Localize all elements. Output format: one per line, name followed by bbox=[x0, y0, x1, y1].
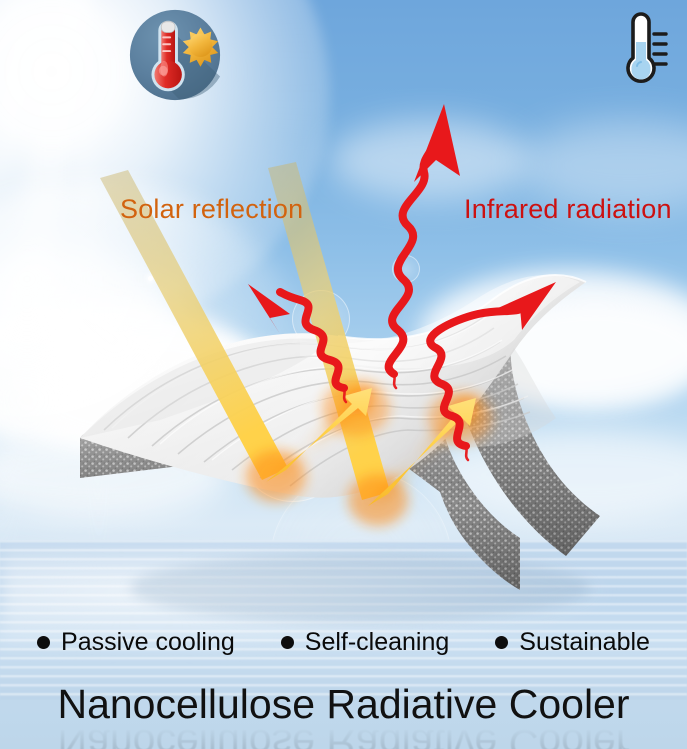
thermometer-cold-icon bbox=[617, 12, 669, 94]
label-infrared-radiation: Infrared radiation bbox=[464, 194, 672, 225]
feature-list: Passive cooling Self-cleaning Sustainabl… bbox=[0, 628, 687, 657]
graphical-abstract: Solar reflection Infrared radiation Pass… bbox=[0, 0, 687, 749]
page-title-reflection: Nanocellulose Radiative Cooler bbox=[0, 723, 687, 749]
list-item: Passive cooling bbox=[37, 628, 235, 657]
feature-label: Passive cooling bbox=[61, 628, 235, 657]
thermometer-ticks bbox=[654, 34, 666, 64]
feature-label: Self-cleaning bbox=[305, 628, 450, 657]
title-block: Nanocellulose Radiative Cooler Nanocellu… bbox=[0, 684, 687, 749]
bullet-dot-icon bbox=[37, 636, 50, 649]
feature-label: Sustainable bbox=[519, 628, 650, 657]
list-item: Self-cleaning bbox=[281, 628, 450, 657]
list-item: Sustainable bbox=[495, 628, 650, 657]
bullet-dot-icon bbox=[495, 636, 508, 649]
page-title: Nanocellulose Radiative Cooler bbox=[0, 684, 687, 725]
label-solar-reflection: Solar reflection bbox=[120, 194, 303, 225]
thermometer-sun-icon bbox=[126, 6, 224, 104]
bullet-dot-icon bbox=[281, 636, 294, 649]
